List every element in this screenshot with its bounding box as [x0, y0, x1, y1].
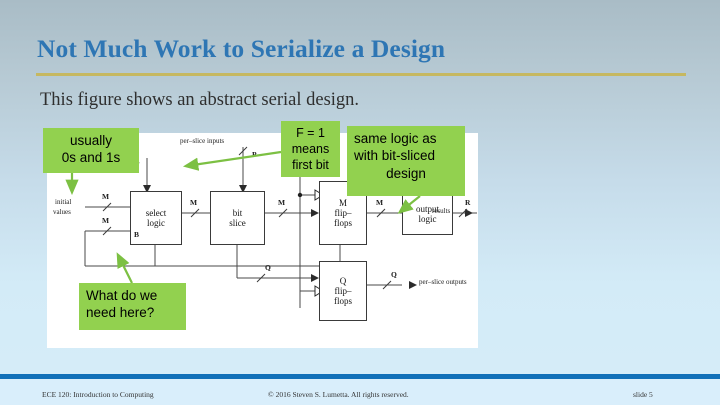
label-per-slice-outputs: per–slice outputs [419, 279, 467, 286]
label-q-out: Q [265, 264, 271, 272]
callout-need-here: What do we need here? [79, 283, 186, 330]
label-bus-m2: M [102, 217, 109, 225]
callout-same-logic-line2: with bit-sliced [354, 148, 435, 163]
callout-need-here-line2: need here? [86, 305, 154, 320]
footer-slide-number: slide 5 [633, 390, 653, 399]
callout-need-here-line1: What do we [86, 288, 157, 303]
page-title: Not Much Work to Serialize a Design [37, 34, 677, 64]
label-p: P [252, 151, 257, 159]
label-q-bus: Q [391, 271, 397, 279]
label-bus-m1: M [102, 193, 109, 201]
callout-same-logic: same logic as with bit-sliced design [347, 126, 465, 196]
callout-first-bit-line1: F = 1 [296, 126, 325, 140]
block-m-flip-flops-label: M flip– flops [334, 198, 352, 228]
label-bus-m3: M [190, 199, 197, 207]
block-q-flip-flops-label: Q flip– flops [334, 276, 352, 306]
label-initial-values-line1: initial [55, 199, 71, 206]
callout-usually-line2: 0s and 1s [62, 150, 121, 165]
title-divider [36, 73, 686, 76]
label-bus-m4: M [278, 199, 285, 207]
label-b: B [134, 231, 139, 239]
callout-same-logic-line1: same logic as [354, 131, 437, 146]
label-initial-values-line2: values [53, 209, 71, 216]
footer-copyright: © 2016 Steven S. Lumetta. All rights res… [268, 390, 409, 399]
callout-usually: usually 0s and 1s [43, 128, 139, 173]
callout-usually-line1: usually [70, 133, 112, 148]
block-bit-slice-label: bit slice [229, 208, 246, 228]
label-results: results [432, 208, 450, 215]
label-bus-m5: M [376, 199, 383, 207]
block-bit-slice: bit slice [210, 191, 265, 245]
callout-first-bit-line2: means [292, 142, 330, 156]
label-per-slice-inputs: per–slice inputs [180, 138, 224, 145]
slide-canvas: Not Much Work to Serialize a Design This… [0, 0, 720, 405]
callout-same-logic-line3: design [354, 165, 458, 182]
footer-accent-bar [0, 374, 720, 379]
subtitle-text: This figure shows an abstract serial des… [40, 90, 680, 111]
callout-first-bit-line3: first bit [292, 158, 329, 172]
callout-first-bit: F = 1 means first bit [281, 121, 340, 177]
block-select-logic-label: select logic [146, 208, 167, 228]
block-q-flip-flops: Q flip– flops [319, 261, 367, 321]
footer-course: ECE 120: Introduction to Computing [42, 390, 154, 399]
label-r: R [465, 199, 470, 207]
